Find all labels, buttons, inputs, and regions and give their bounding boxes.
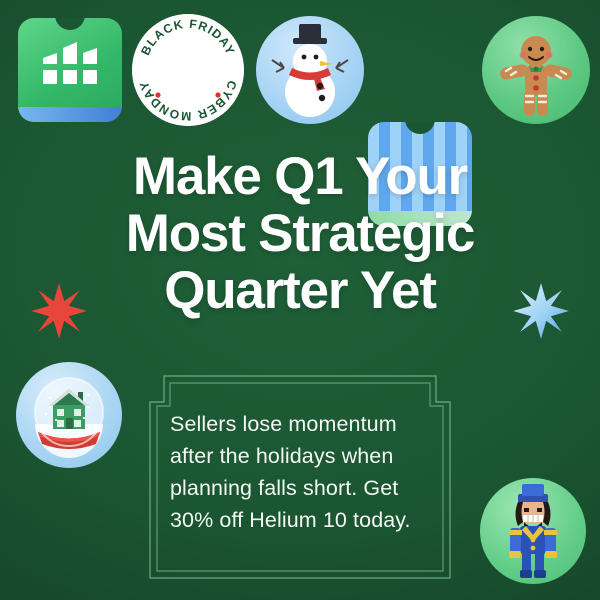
card-foot — [18, 107, 122, 122]
snowglobe-icon — [16, 362, 122, 468]
nutcracker-icon — [480, 478, 586, 584]
helium10-logo-tile — [18, 18, 122, 122]
helium10-m-icon — [41, 40, 99, 92]
gingerbread-man-icon — [482, 16, 590, 124]
card-notch — [405, 122, 435, 134]
black-friday-badge: BLACK FRIDAY CYBER MONDAY — [132, 14, 244, 126]
nutcracker-tile — [480, 478, 586, 584]
red-star-icon — [30, 282, 88, 340]
card-notch — [55, 18, 85, 30]
snowman-tile — [256, 16, 364, 124]
page-title: Make Q1 Your Most Strategic Quarter Yet — [0, 148, 600, 319]
snowglobe-tile — [16, 362, 122, 468]
body-text: Sellers lose momentum after the holidays… — [170, 408, 432, 536]
snowman-icon — [256, 16, 364, 124]
body-card: Sellers lose momentum after the holidays… — [148, 362, 452, 580]
badge-dot-right — [215, 92, 220, 97]
gingerbread-tile — [482, 16, 590, 124]
promo-poster: BLACK FRIDAY CYBER MONDAY — [0, 0, 600, 600]
blue-star-icon — [512, 282, 570, 340]
badge-arc-text: BLACK FRIDAY CYBER MONDAY — [132, 14, 244, 126]
badge-dot-left — [155, 92, 160, 97]
